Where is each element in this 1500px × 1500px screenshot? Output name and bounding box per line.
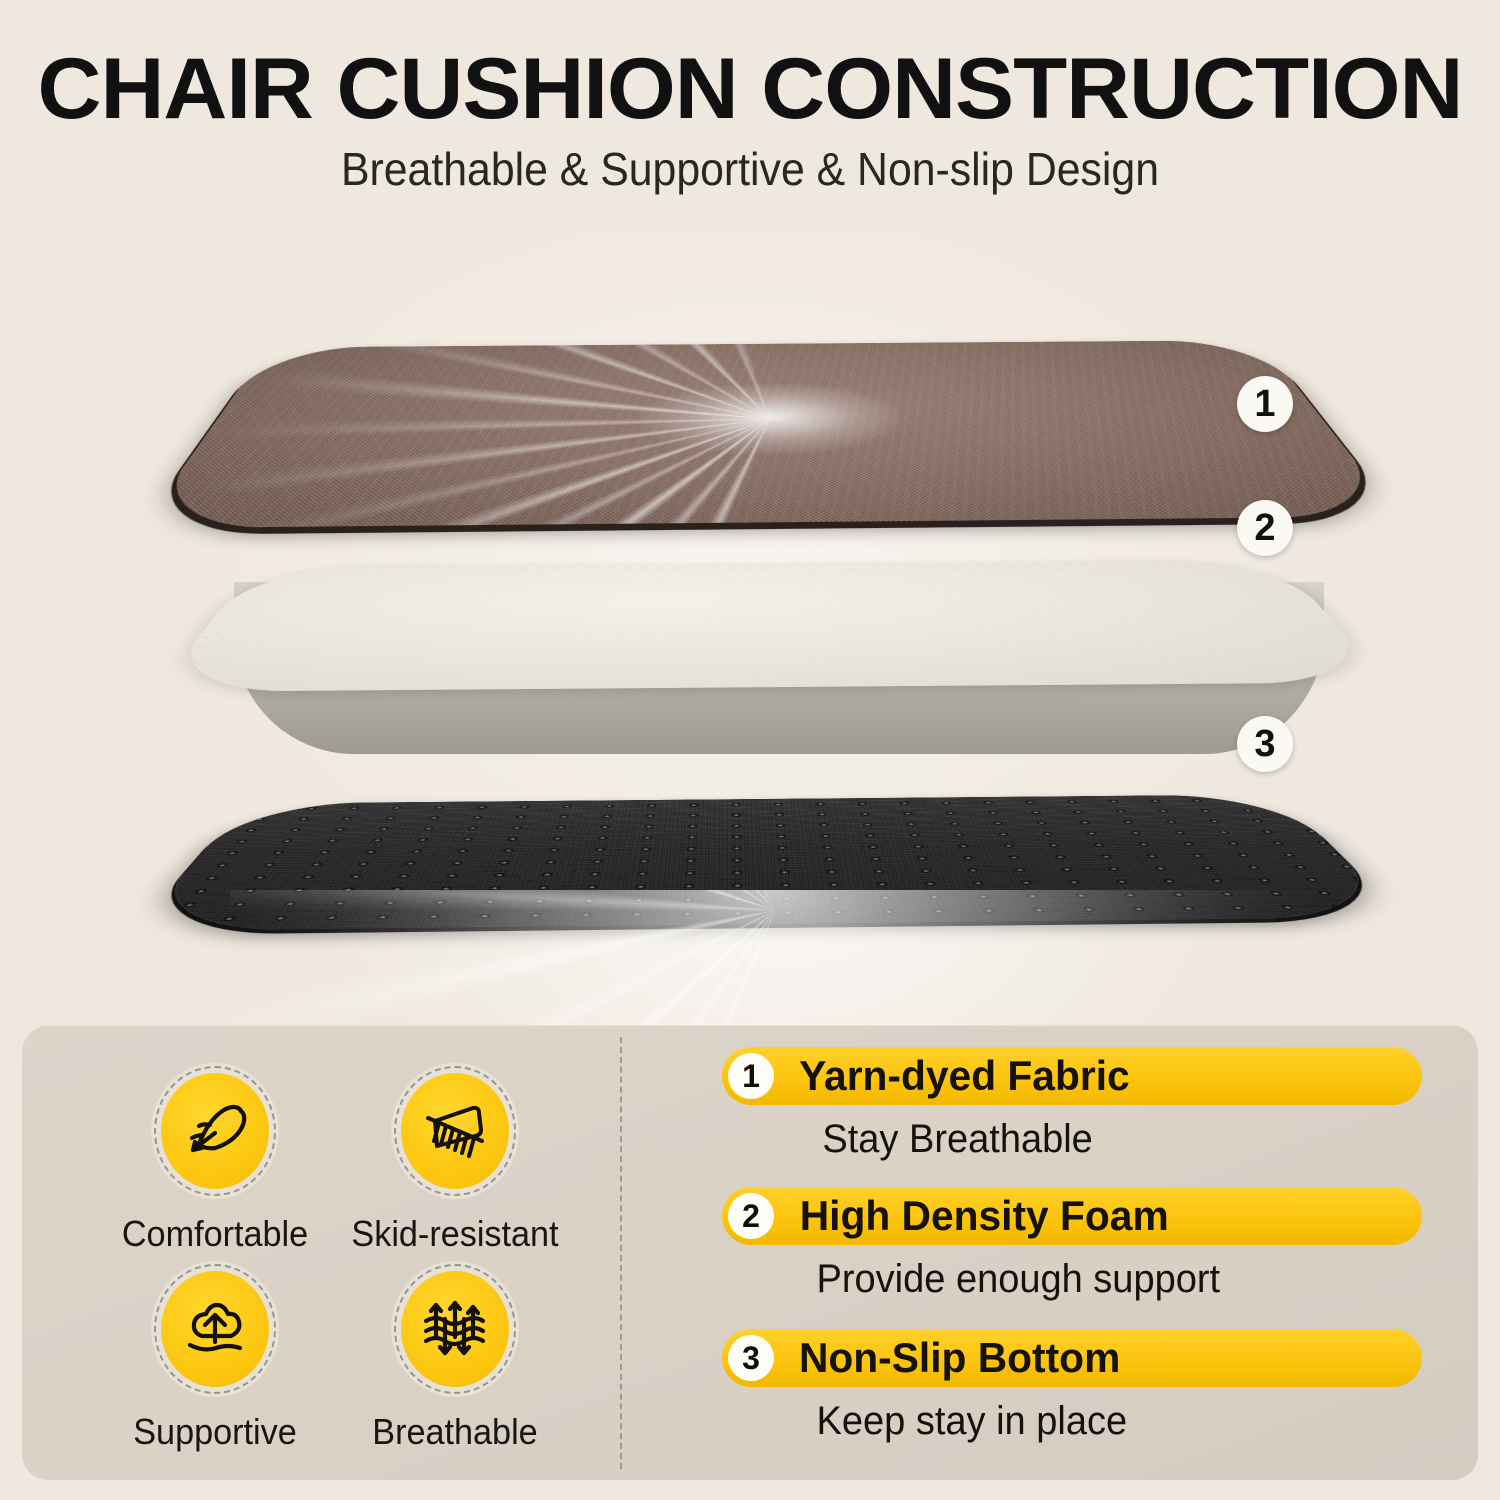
product-exploded-view bbox=[0, 200, 1500, 1020]
callout-badge-2: 2 bbox=[1237, 500, 1293, 556]
rays-core-highlight bbox=[636, 383, 907, 455]
feature-row-2[interactable]: 2 High Density Foam Provide enough suppo… bbox=[722, 1187, 1462, 1302]
feature-pill[interactable]: 3 Non-Slip Bottom bbox=[722, 1329, 1422, 1387]
feature-subtitle: Stay Breathable bbox=[822, 1117, 1445, 1162]
feature-icon-grid: Comfortable bbox=[82, 1053, 602, 1453]
page-subtitle: Breathable & Supportive & Non-slip Desig… bbox=[53, 142, 1448, 196]
feature-label: Skid-resistant bbox=[336, 1213, 574, 1255]
feature-item-breathable[interactable]: Breathable bbox=[330, 1261, 580, 1456]
feature-label: Comfortable bbox=[96, 1213, 334, 1255]
breathability-rays bbox=[140, 340, 1399, 528]
icon-disc bbox=[161, 1073, 269, 1189]
callout-badge-1: 1 bbox=[1237, 376, 1293, 432]
feature-label: Breathable bbox=[336, 1411, 574, 1453]
feature-item-skid-resistant[interactable]: Skid-resistant bbox=[330, 1063, 580, 1258]
icon-disc bbox=[161, 1271, 269, 1387]
pill-number: 2 bbox=[728, 1193, 774, 1239]
feather-icon bbox=[181, 1100, 249, 1162]
icon-ring bbox=[391, 1063, 519, 1199]
icon-disc bbox=[401, 1073, 509, 1189]
feature-pill[interactable]: 1 Yarn-dyed Fabric bbox=[722, 1047, 1422, 1105]
cushion-support-icon bbox=[180, 1298, 250, 1360]
feature-subtitle: Provide enough support bbox=[817, 1257, 1446, 1302]
header: CHAIR CUSHION CONSTRUCTION Breathable & … bbox=[0, 0, 1500, 210]
icon-ring bbox=[391, 1261, 519, 1397]
foam-grain-texture bbox=[155, 561, 1387, 692]
feature-row-3[interactable]: 3 Non-Slip Bottom Keep stay in place bbox=[722, 1329, 1462, 1444]
airflow-waves-icon bbox=[420, 1297, 490, 1361]
pill-number: 1 bbox=[728, 1053, 774, 1099]
yarn-dyed-fabric-layer bbox=[140, 340, 1399, 528]
icon-ring bbox=[151, 1261, 279, 1397]
grip-brush-icon bbox=[421, 1100, 489, 1162]
feature-item-comfortable[interactable]: Comfortable bbox=[90, 1063, 340, 1258]
page-title: CHAIR CUSHION CONSTRUCTION bbox=[0, 46, 1500, 132]
pill-title: High Density Foam bbox=[800, 1192, 1169, 1240]
feature-item-supportive[interactable]: Supportive bbox=[90, 1261, 340, 1456]
feature-label: Supportive bbox=[96, 1411, 334, 1453]
numbered-feature-list: 1 Yarn-dyed Fabric Stay Breathable 2 Hig… bbox=[722, 1039, 1462, 1469]
icon-ring bbox=[151, 1063, 279, 1199]
feature-row-1[interactable]: 1 Yarn-dyed Fabric Stay Breathable bbox=[722, 1047, 1462, 1162]
features-panel: Comfortable bbox=[22, 1025, 1478, 1480]
fabric-surface bbox=[140, 340, 1399, 528]
pill-title: Non-Slip Bottom bbox=[799, 1334, 1120, 1382]
icon-disc bbox=[401, 1271, 509, 1387]
pill-number: 3 bbox=[728, 1335, 774, 1381]
panel-divider bbox=[620, 1037, 622, 1469]
feature-pill[interactable]: 2 High Density Foam bbox=[722, 1187, 1422, 1245]
high-density-foam-layer bbox=[212, 470, 1332, 870]
callout-badge-3: 3 bbox=[1237, 716, 1293, 772]
foam-top-surface bbox=[155, 561, 1387, 692]
pill-title: Yarn-dyed Fabric bbox=[799, 1052, 1130, 1100]
feature-subtitle: Keep stay in place bbox=[817, 1399, 1446, 1444]
